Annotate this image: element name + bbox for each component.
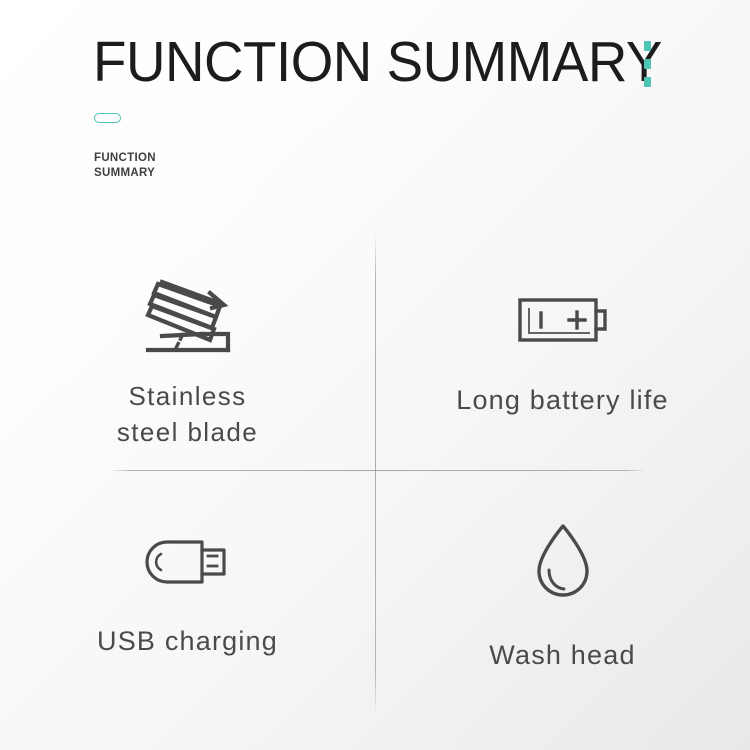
capsule-pill-icon: [94, 113, 121, 123]
feature-grid: Stainless steel blade Lon: [0, 230, 750, 720]
page-header: FUNCTION SUMMARY FUNCTION SUMMARY: [0, 0, 750, 200]
feature-label: Stainless steel blade: [117, 378, 258, 450]
feature-item-wash-head: Wash head: [375, 471, 750, 711]
water-drop-icon: [529, 521, 597, 603]
feature-item-long-battery-life: Long battery life: [375, 230, 750, 470]
page-subtitle-line-2: SUMMARY: [94, 166, 214, 181]
razor-blade-icon: [140, 274, 236, 356]
dot-1: [644, 41, 651, 51]
feature-item-stainless-steel-blade: Stainless steel blade: [0, 230, 375, 470]
page-title: FUNCTION SUMMARY: [93, 27, 662, 97]
function-summary-page: FUNCTION SUMMARY FUNCTION SUMMARY: [0, 0, 750, 750]
vertical-dots-icon[interactable]: [643, 41, 651, 87]
page-subtitle-line-1: FUNCTION: [94, 151, 214, 166]
dot-2: [644, 59, 651, 69]
battery-icon: [516, 292, 610, 348]
dot-3: [644, 77, 651, 87]
feature-label: USB charging: [97, 623, 278, 659]
feature-item-usb-charging: USB charging: [0, 471, 375, 711]
feature-label: Wash head: [489, 637, 635, 673]
usb-flash-drive-icon: [140, 535, 236, 589]
page-subtitle: FUNCTION SUMMARY: [94, 151, 214, 181]
feature-label: Long battery life: [456, 382, 669, 418]
